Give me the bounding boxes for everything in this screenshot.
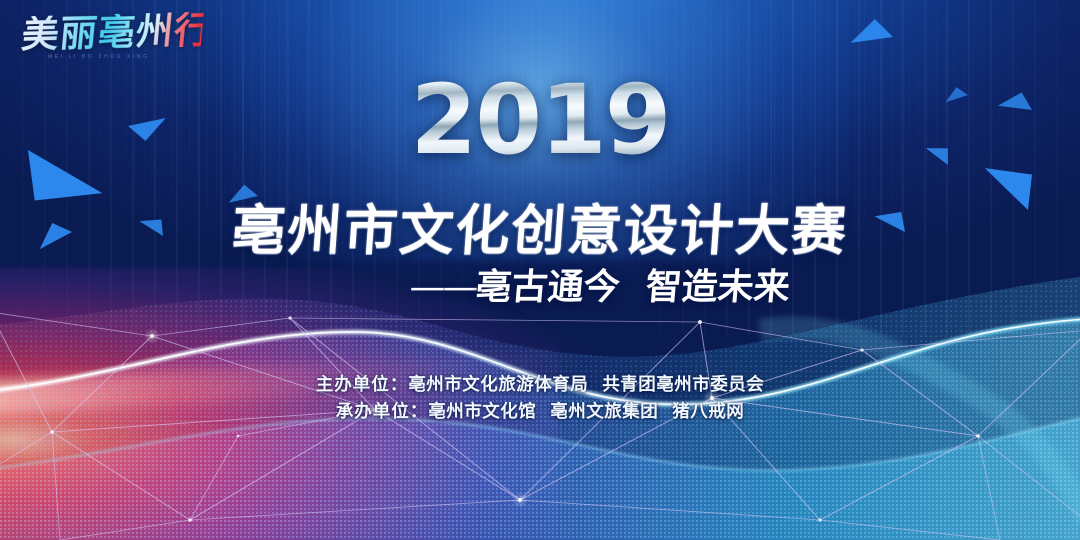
organizer-entity: 亳州市文化馆 (428, 402, 536, 422)
organizer-line: 承办单位：亳州市文化馆亳州文旅集团猪八戒网 (0, 399, 1080, 426)
slogan: ——亳古通今智造未来 (0, 258, 1080, 310)
year-heading: 2019 (0, 72, 1080, 168)
organizer-label: 承办单位： (336, 402, 429, 422)
slogan-dash: —— (408, 267, 478, 308)
slogan-part-2: 智造未来 (644, 266, 792, 308)
organizer-credits: 主办单位：亳州市文化旅游体育局共青团亳州市委员会 承办单位：亳州市文化馆亳州文旅… (0, 372, 1080, 426)
organizer-line: 主办单位：亳州市文化旅游体育局共青团亳州市委员会 (0, 372, 1080, 399)
organizer-entity: 亳州文旅集团 (550, 402, 658, 422)
triangle-shard-icon (846, 15, 893, 51)
organizer-label: 主办单位： (316, 375, 409, 395)
page-title: 亳州市文化创意设计大赛 (0, 186, 1080, 265)
organizer-entity: 猪八戒网 (672, 402, 744, 422)
slogan-part-1: 亳古通今 (474, 266, 622, 308)
poster-canvas: 美丽亳州行 MEI LI BO ZHOU XING 2019 亳州市文化创意设计… (0, 0, 1080, 540)
logo-wordmark: 美丽亳州行 (20, 12, 204, 54)
organizer-entity: 共青团亳州市委员会 (602, 375, 764, 395)
beautiful-bozhou-tour-logo[interactable]: 美丽亳州行 MEI LI BO ZHOU XING (22, 14, 202, 72)
organizer-entity: 亳州市文化旅游体育局 (408, 375, 588, 395)
year-value: 2019 (410, 72, 669, 168)
